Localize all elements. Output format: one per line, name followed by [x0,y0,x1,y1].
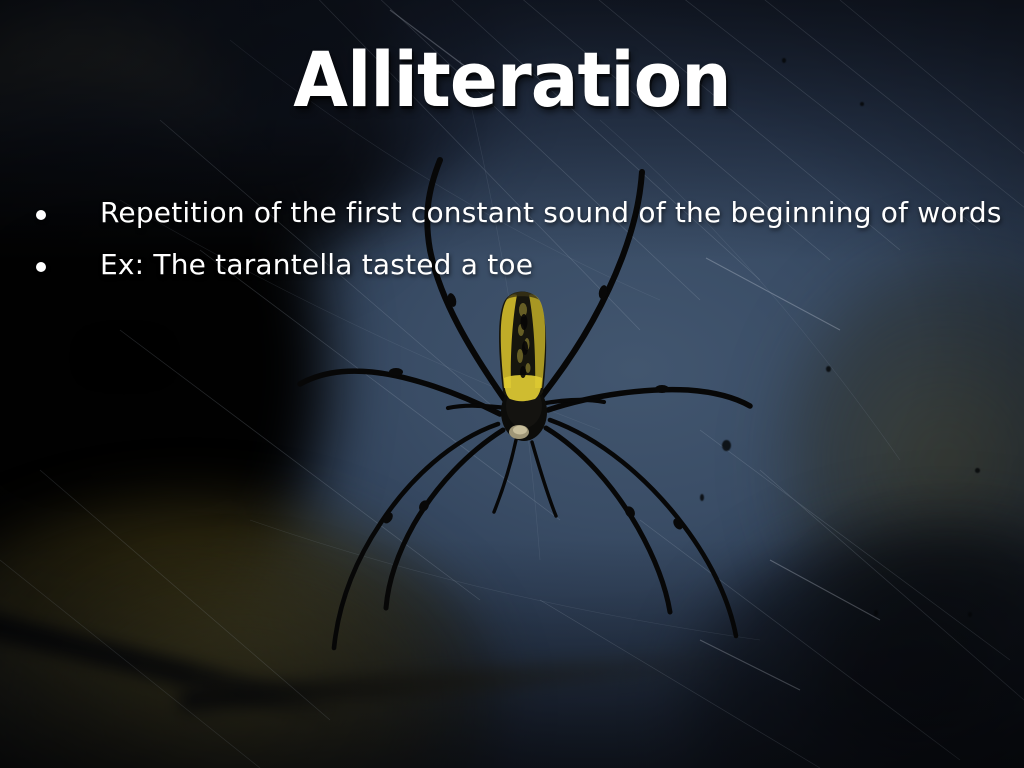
page-title: Alliteration [36,42,988,118]
list-item: Repetition of the first constant sound o… [28,196,984,248]
bullet-list: Repetition of the first constant sound o… [28,196,984,300]
list-item: Ex: The tarantella tasted a toe [28,248,984,300]
list-item-label: Repetition of the first constant sound o… [100,196,1002,230]
bullet-point-icon [36,262,46,272]
presentation-slide: Alliteration Repetition of the first con… [0,0,1024,768]
list-item-label: Ex: The tarantella tasted a toe [100,248,533,282]
bullet-point-icon [36,210,46,220]
